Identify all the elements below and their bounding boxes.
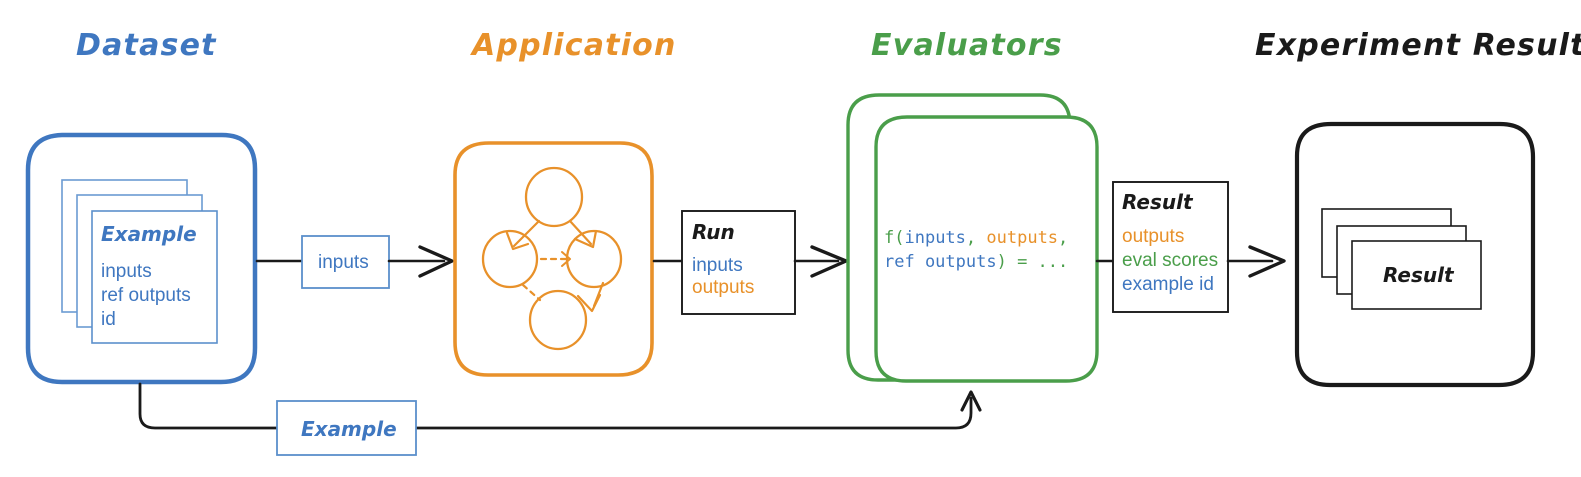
code-token-comma-1: , bbox=[966, 228, 986, 248]
code-token-f-open: f( bbox=[884, 228, 904, 248]
run-box[interactable]: Run inputs outputs bbox=[682, 211, 795, 314]
evaluators-box-front bbox=[876, 117, 1097, 381]
result-card-title: Result bbox=[1383, 263, 1455, 287]
title-dataset: Dataset bbox=[76, 28, 217, 63]
result-field-example-id: example id bbox=[1122, 274, 1214, 295]
inputs-box[interactable]: inputs bbox=[302, 236, 389, 288]
run-field-inputs: inputs bbox=[692, 255, 743, 276]
code-token-outputs: outputs bbox=[986, 228, 1058, 248]
example-card-title: Example bbox=[101, 222, 197, 246]
title-experiment-results: Experiment Results bbox=[1255, 28, 1581, 63]
example-field-ref-outputs: ref outputs bbox=[101, 285, 191, 306]
evaluation-flow-diagram: Dataset Application Evaluators Experimen… bbox=[0, 0, 1581, 477]
example-field-inputs: inputs bbox=[101, 261, 152, 282]
arrow-result-to-experiment-results bbox=[1228, 247, 1284, 276]
result-box-title: Result bbox=[1122, 190, 1194, 214]
feedback-path-left-segment bbox=[140, 384, 277, 428]
result-field-outputs: outputs bbox=[1122, 226, 1184, 247]
application-node-top bbox=[526, 168, 582, 226]
experiment-results-container[interactable]: Result bbox=[1297, 124, 1533, 385]
evaluator-code-line-1: f(inputs, outputs, bbox=[884, 228, 1068, 248]
evaluators-container[interactable]: f(inputs, outputs, ref outputs) = ... bbox=[848, 95, 1097, 381]
evaluator-code-line-2: ref outputs) = ... bbox=[884, 252, 1068, 272]
diagram-canvas: Dataset Application Evaluators Experimen… bbox=[0, 0, 1581, 477]
code-token-comma-2: , bbox=[1058, 228, 1068, 248]
title-application: Application bbox=[470, 28, 677, 63]
code-token-close-eq: ) = ... bbox=[997, 252, 1069, 272]
feedback-path-right-segment bbox=[416, 398, 971, 428]
run-field-outputs: outputs bbox=[692, 277, 754, 298]
code-token-ref-outputs: ref outputs bbox=[884, 252, 997, 272]
run-box-title: Run bbox=[692, 220, 735, 244]
application-container[interactable] bbox=[455, 143, 652, 375]
arrow-run-to-evaluators bbox=[795, 247, 846, 276]
arrow-inputs-to-application bbox=[389, 247, 452, 276]
result-field-eval-scores: eval scores bbox=[1122, 250, 1218, 271]
title-evaluators: Evaluators bbox=[871, 28, 1063, 63]
feedback-example-box[interactable]: Example bbox=[277, 401, 416, 455]
example-field-id: id bbox=[101, 309, 116, 330]
feedback-example-box-label: Example bbox=[301, 417, 397, 441]
code-token-inputs: inputs bbox=[904, 228, 965, 248]
inputs-box-label: inputs bbox=[318, 252, 369, 273]
result-box[interactable]: Result outputs eval scores example id bbox=[1113, 182, 1228, 312]
dataset-container[interactable]: Example inputs ref outputs id bbox=[28, 135, 255, 382]
feedback-path bbox=[140, 384, 980, 428]
